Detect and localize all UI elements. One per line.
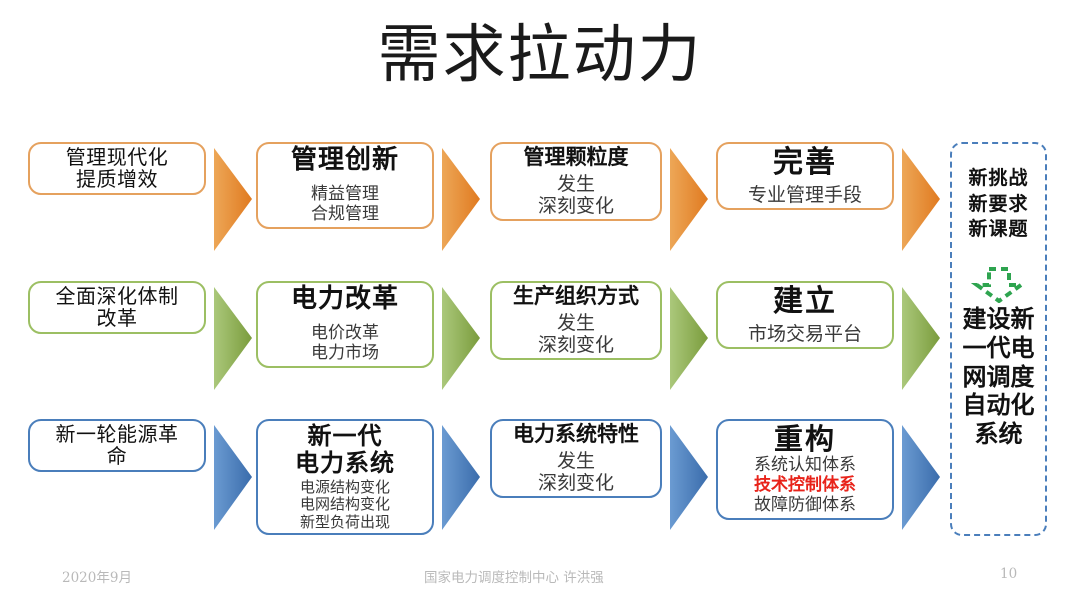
node-sub: 市场交易平台 [748, 323, 862, 345]
footer-author: 国家电力调度控制中心 许洪强 [424, 566, 604, 586]
flow-row-system-reform: 全面深化体制 改革 电力改革 电价改革 电力市场 [0, 281, 945, 396]
footer-date: 2020年9月 [62, 566, 132, 586]
node-r0-c2[interactable]: 管理颗粒度 发生 深刻变化 [490, 142, 662, 221]
node-headline: 新一代 电力系统 [295, 423, 395, 477]
side-panel-top-text: 新挑战 新要求 新课题 [968, 166, 1028, 243]
arrow-right-icon-r0-a3 [900, 142, 942, 257]
node-sub-2: 故障防御体系 [754, 496, 856, 516]
node-sub: 专业管理手段 [748, 184, 862, 206]
node-r0-c1[interactable]: 管理创新 精益管理 合规管理 [256, 142, 434, 229]
arrow-right-icon-r1-a3 [900, 281, 942, 396]
node-headline: 完善 [773, 146, 837, 180]
node-r1-c3[interactable]: 建立 市场交易平台 [716, 281, 894, 349]
node-headline: 重构 [774, 423, 836, 455]
node-r2-c3[interactable]: 重构 系统认知体系 技术控制体系 故障防御体系 [716, 419, 894, 520]
arrow-right-icon-r2-a0 [212, 419, 254, 536]
node-headline: 生产组织方式 [513, 285, 639, 309]
arrow-right-icon-r0-a2 [668, 142, 710, 257]
footer-page-number: 10 [1000, 566, 1017, 582]
slide-root: 需求拉动力 管理现代化 提质增效 管理创新 精益管理 合规管理 [0, 0, 1080, 608]
node-r2-c2[interactable]: 电力系统特性 发生 深刻变化 [490, 419, 662, 498]
node-r1-c2[interactable]: 生产组织方式 发生 深刻变化 [490, 281, 662, 360]
node-headline: 管理创新 [291, 146, 399, 175]
flow-row-management-modernization: 管理现代化 提质增效 管理创新 精益管理 合规管理 [0, 142, 945, 257]
node-sub: 电价改革 电力市场 [311, 324, 379, 363]
node-r2-c0[interactable]: 新一轮能源革 命 [28, 419, 206, 472]
node-sub: 发生 深刻变化 [538, 450, 614, 494]
node-headline: 管理现代化 提质增效 [66, 146, 169, 191]
flow-row-energy-revolution: 新一轮能源革 命 新一代 电力系统 电源结构变化 电网结构变化 新型负荷出现 [0, 419, 945, 536]
node-r0-c3[interactable]: 完善 专业管理手段 [716, 142, 894, 210]
node-sub: 电源结构变化 电网结构变化 新型负荷出现 [300, 479, 390, 531]
node-sub: 发生 深刻变化 [538, 312, 614, 356]
node-sub: 发生 深刻变化 [538, 173, 614, 217]
flow-diagram: 管理现代化 提质增效 管理创新 精益管理 合规管理 [0, 0, 1080, 560]
arrow-down-dashed-icon [971, 267, 1027, 303]
node-headline: 新一轮能源革 命 [56, 423, 179, 468]
arrow-right-icon-r2-a2 [668, 419, 710, 536]
arrow-right-icon-r2-a3 [900, 419, 942, 536]
side-panel-bottom-text: 建设新一代电网调度自动化系统 [957, 305, 1041, 449]
arrow-right-icon-r1-a0 [212, 281, 254, 396]
arrow-right-icon-r2-a1 [440, 419, 482, 536]
node-headline: 电力系统特性 [513, 423, 639, 447]
node-headline: 电力改革 [291, 285, 399, 314]
arrow-right-icon-r0-a1 [440, 142, 482, 257]
arrow-right-icon-r0-a0 [212, 142, 254, 257]
node-headline: 建立 [773, 285, 837, 319]
arrow-right-icon-r1-a1 [440, 281, 482, 396]
node-headline: 管理颗粒度 [524, 146, 629, 170]
arrow-right-icon-r1-a2 [668, 281, 710, 396]
new-challenges-panel[interactable]: 新挑战 新要求 新课题 建设新一代电网调度自动化系统 [950, 142, 1047, 536]
node-headline: 全面深化体制 改革 [56, 285, 179, 330]
node-sub: 精益管理 合规管理 [311, 185, 379, 224]
node-sub-red: 技术控制体系 [754, 476, 856, 496]
node-r0-c0[interactable]: 管理现代化 提质增效 [28, 142, 206, 195]
node-r2-c1[interactable]: 新一代 电力系统 电源结构变化 电网结构变化 新型负荷出现 [256, 419, 434, 535]
slide-footer: 2020年9月 国家电力调度控制中心 许洪强 10 [0, 566, 1080, 596]
node-sub-1: 系统认知体系 [754, 456, 856, 476]
node-r1-c0[interactable]: 全面深化体制 改革 [28, 281, 206, 334]
node-r1-c1[interactable]: 电力改革 电价改革 电力市场 [256, 281, 434, 368]
